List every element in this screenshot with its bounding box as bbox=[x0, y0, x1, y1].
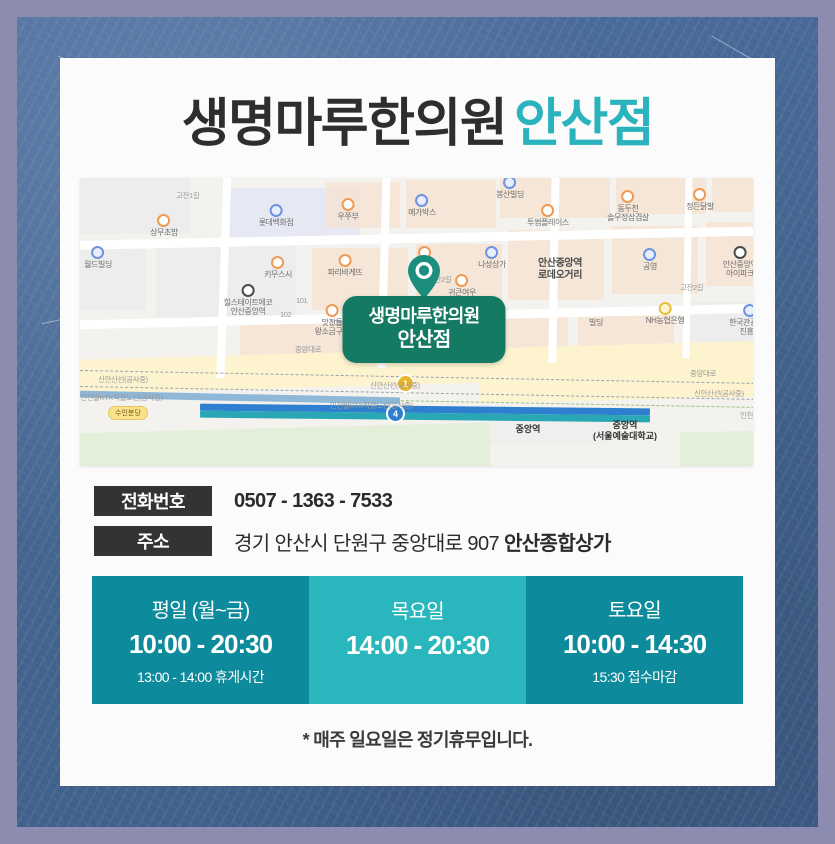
map-poi: 정든닭발 bbox=[686, 188, 714, 211]
title-main: 생명마루한의원 bbox=[182, 95, 506, 153]
address-label: 주소 bbox=[94, 526, 212, 556]
phone-value: 0507 - 1363 - 7533 bbox=[234, 490, 392, 513]
phone-row: 전화번호 0507 - 1363 - 7533 bbox=[94, 486, 741, 516]
hours-note: 15:30 접수마감 bbox=[592, 667, 676, 687]
rail-label: 신안산선(공사중) bbox=[98, 374, 148, 385]
poster: 생명마루한의원안산점 bbox=[0, 0, 835, 844]
map-poi: 월드빌딩 bbox=[84, 246, 112, 269]
callout-line-2: 안산점 bbox=[368, 329, 479, 352]
map-poi: 귀큰여우 bbox=[448, 274, 476, 297]
hours-table: 평일 (월~금) 10:00 - 20:30 13:00 - 14:00 휴게시… bbox=[92, 576, 743, 704]
title-branch: 안산점 bbox=[514, 95, 653, 153]
location-pin-icon bbox=[407, 254, 441, 300]
hours-cell-saturday: 토요일 10:00 - 14:30 15:30 접수마감 bbox=[526, 576, 743, 704]
map-poi: 안산중앙역로데오거리 bbox=[538, 258, 582, 281]
map-poi: 투썸플레이스 bbox=[527, 204, 569, 227]
map-poi: NH농협은행 bbox=[646, 302, 685, 325]
map-poi: 빌딩 bbox=[589, 318, 603, 327]
street-label: 고잔2길 bbox=[680, 282, 703, 293]
map-poi: 롯데백화점 bbox=[259, 204, 294, 227]
map-poi: 봉산빌딩 bbox=[496, 178, 524, 199]
street-label: 중앙대로 bbox=[295, 344, 321, 355]
street-label: 중앙대로 bbox=[690, 368, 716, 379]
hours-cell-thursday: 목요일 14:00 - 20:30 bbox=[309, 576, 526, 704]
page-title: 생명마루한의원안산점 bbox=[60, 98, 775, 150]
map-poi: 나성상가 bbox=[478, 246, 506, 269]
street-label: 101 bbox=[296, 296, 307, 305]
location-map[interactable]: 수인분당 4 1 고잔1길 고잔2길 고잔2길 중앙대로 중앙대로 101 10… bbox=[80, 178, 753, 466]
hours-time: 10:00 - 20:30 bbox=[129, 629, 272, 660]
station-label: 중앙역 (서울예술대학교) bbox=[593, 420, 657, 442]
map-canvas: 수인분당 4 1 고잔1길 고잔2길 고잔2길 중앙대로 중앙대로 101 10… bbox=[80, 178, 753, 466]
hours-day: 토요일 bbox=[608, 594, 661, 623]
map-poi: 공영 bbox=[643, 248, 657, 271]
address-text: 경기 안산시 단원구 중앙대로 907 bbox=[234, 533, 504, 555]
phone-label: 전화번호 bbox=[94, 486, 212, 516]
rail-label: 인천발KTX직결노선(공사중) bbox=[80, 392, 163, 403]
hours-day: 평일 (월~금) bbox=[152, 594, 250, 623]
map-poi: 메가박스 bbox=[408, 194, 436, 217]
street-label: 102 bbox=[280, 310, 291, 319]
rail-label: 인천발KTX직결노선(공사중) bbox=[330, 400, 413, 411]
map-callout: 생명마루한의원 안산점 bbox=[342, 296, 505, 363]
station-pill: 수인분당 bbox=[108, 406, 148, 420]
station-label: 중앙역 bbox=[516, 424, 541, 435]
hours-time: 10:00 - 14:30 bbox=[563, 629, 706, 660]
rail-label: 신안산선(공사중) bbox=[370, 380, 420, 391]
info-block: 전화번호 0507 - 1363 - 7533 주소 경기 안산시 단원구 중앙… bbox=[94, 486, 741, 566]
address-value: 경기 안산시 단원구 중앙대로 907 안산종합상가 bbox=[234, 527, 611, 556]
rail-label: 인천발KTX직결노선(공사중) bbox=[740, 410, 753, 421]
map-poi: 동두천솔무정삼겹살 bbox=[607, 190, 649, 222]
map-poi: 안산중앙역아이파크 bbox=[723, 246, 753, 278]
map-poi: 키무스시 bbox=[264, 256, 292, 279]
street-label: 고잔1길 bbox=[176, 190, 199, 201]
rail-label: 신안산선(공사중) bbox=[694, 388, 744, 399]
callout-line-1: 생명마루한의원 bbox=[368, 306, 479, 327]
hours-time: 14:00 - 20:30 bbox=[346, 630, 489, 661]
closed-notice: * 매주 일요일은 정기휴무입니다. bbox=[60, 726, 775, 752]
map-poi: 한국관광교육진흥원 bbox=[729, 304, 753, 336]
hours-cell-weekday: 평일 (월~금) 10:00 - 20:30 13:00 - 14:00 휴게시… bbox=[92, 576, 309, 704]
map-poi: 파리바게뜨 bbox=[328, 254, 363, 277]
content-panel: 생명마루한의원안산점 bbox=[60, 58, 775, 786]
hours-day: 목요일 bbox=[391, 595, 444, 624]
map-poi: 상무초밥 bbox=[150, 214, 178, 237]
map-poi: 힐스테이트에코안산중앙역 bbox=[224, 284, 273, 316]
hours-note: 13:00 - 14:00 휴게시간 bbox=[137, 667, 264, 687]
address-building: 안산종합상가 bbox=[504, 533, 611, 555]
map-poi: 우쭈부 bbox=[338, 198, 359, 221]
address-row: 주소 경기 안산시 단원구 중앙대로 907 안산종합상가 bbox=[94, 526, 741, 556]
